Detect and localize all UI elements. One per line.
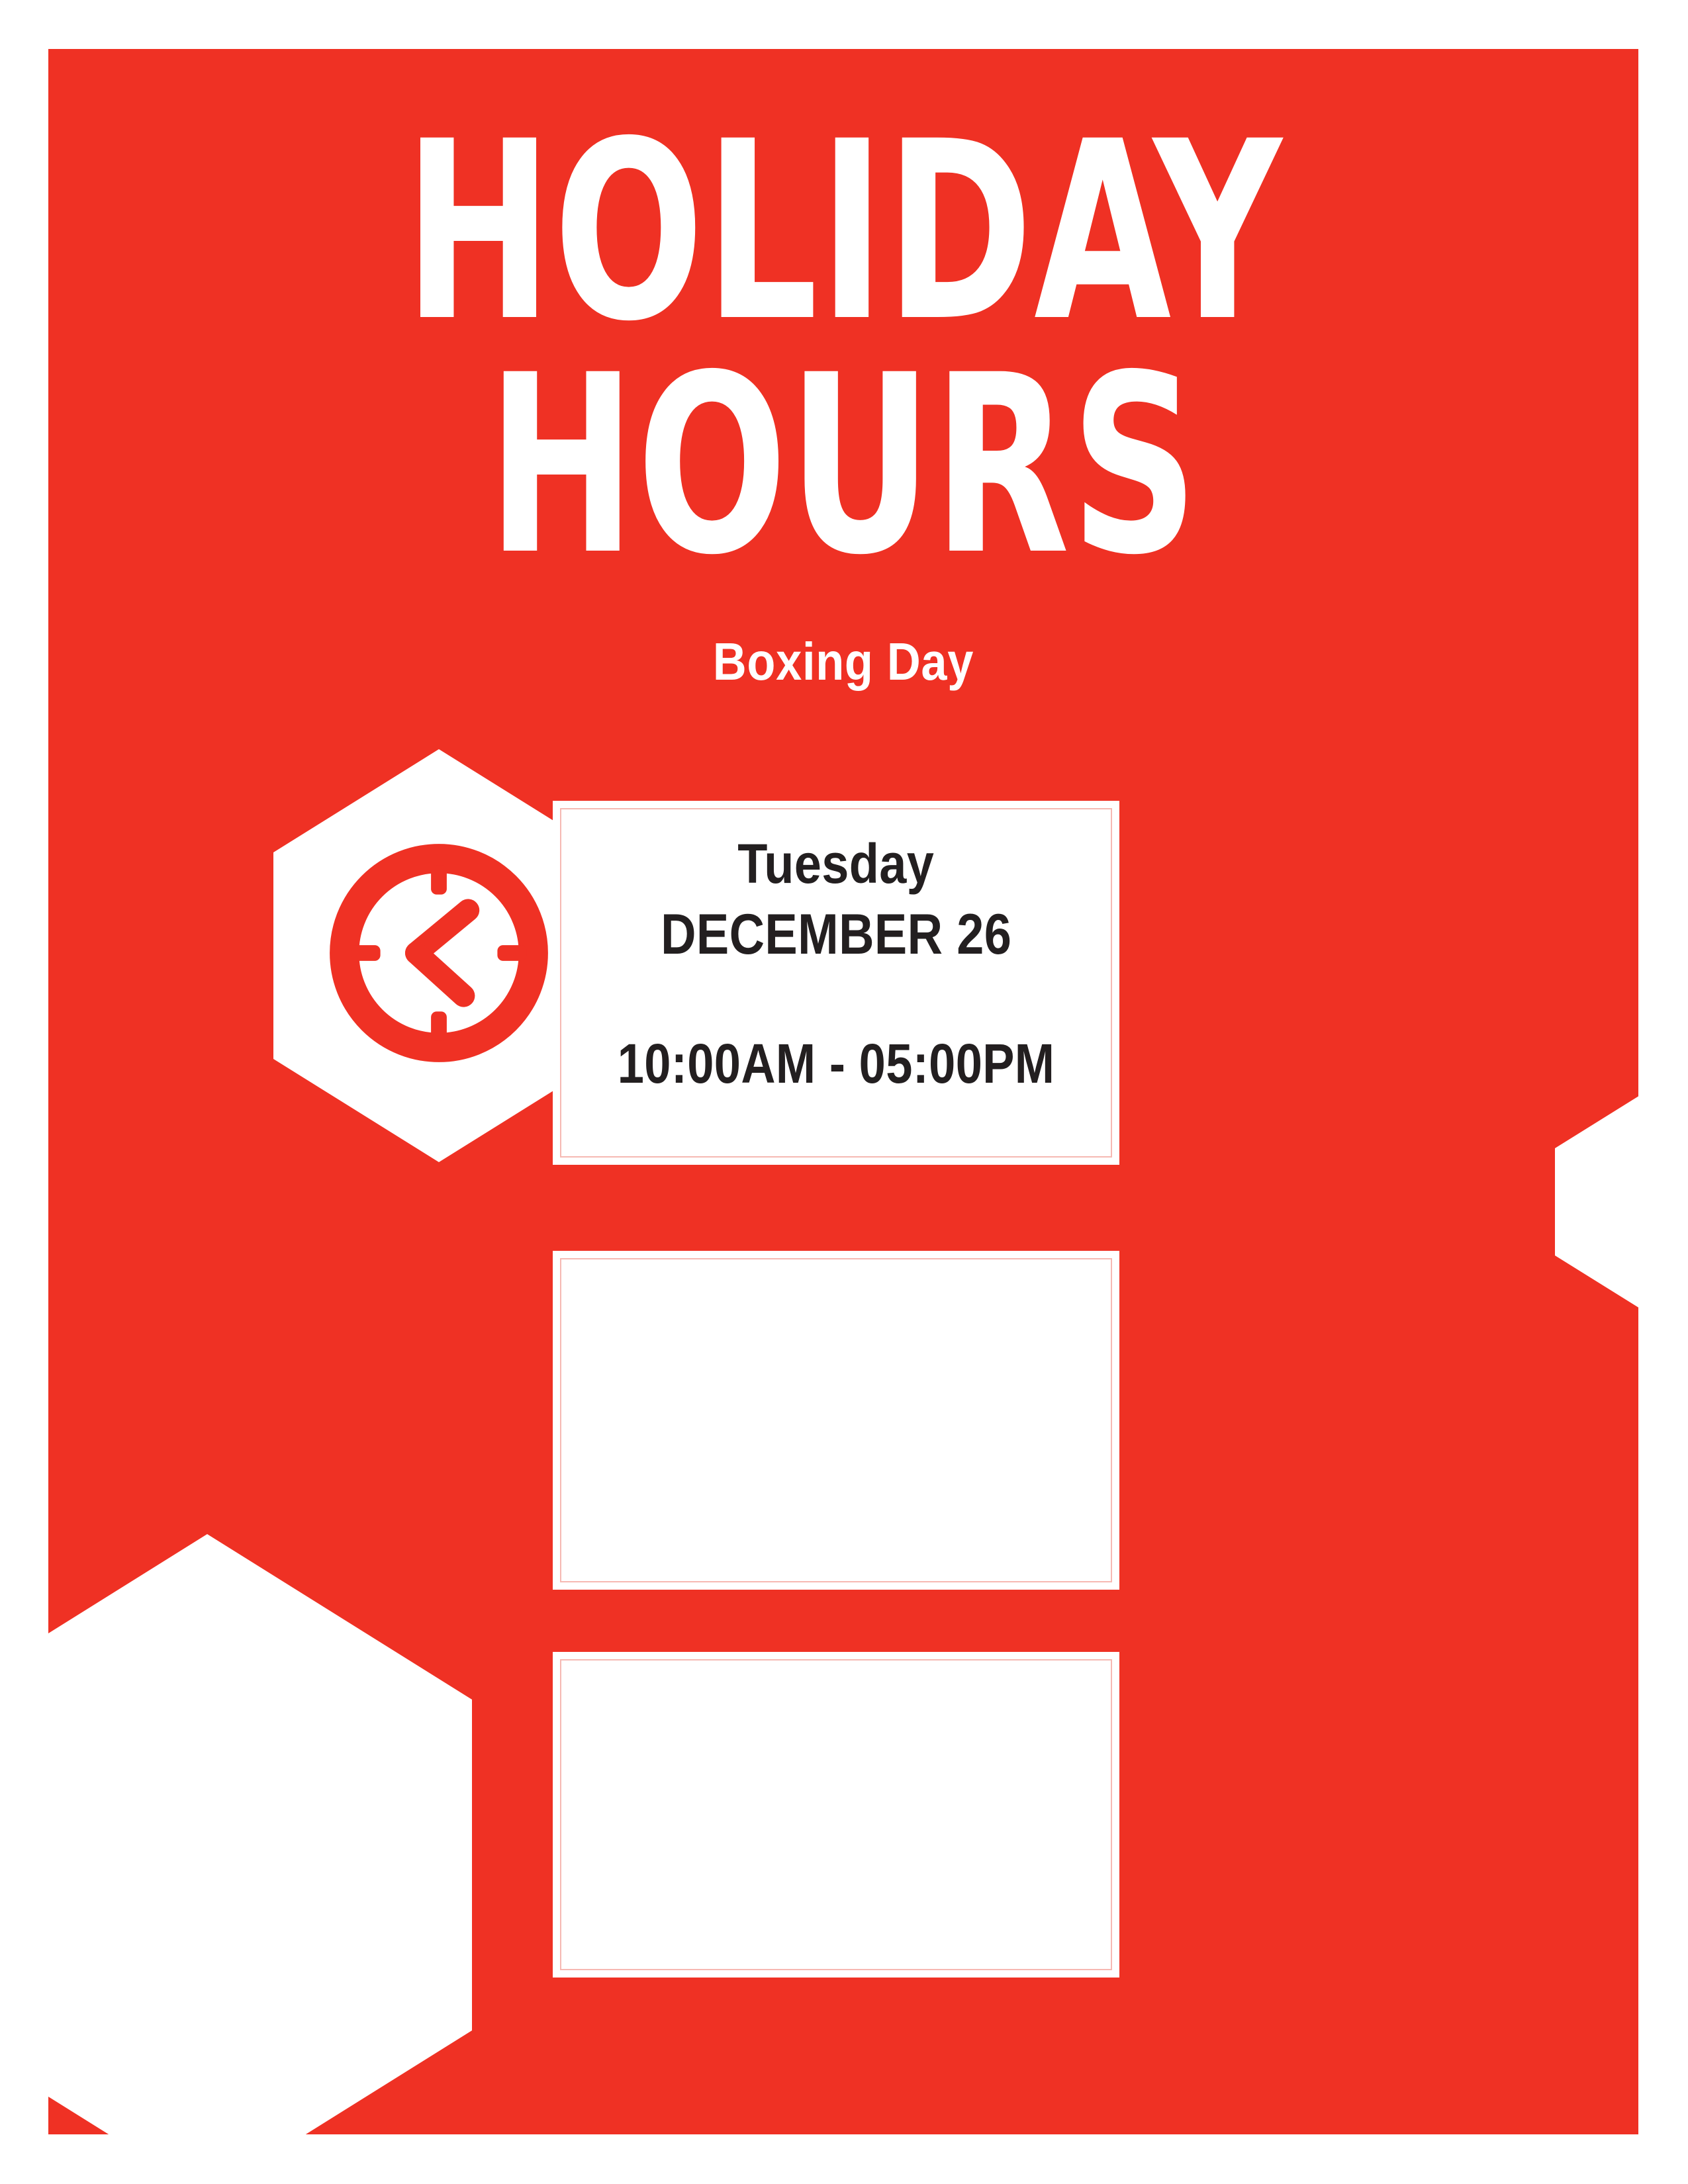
day-card-date: DECEMBER 26 (661, 905, 1011, 964)
title-line-1: HOLIDAY (207, 115, 1479, 349)
hexagon-decor-icon (48, 1534, 472, 2134)
day-card-inner (560, 1659, 1112, 1970)
day-card-weekday: Tuesday (737, 835, 934, 893)
day-card[interactable] (553, 1652, 1119, 1978)
poster-page: HOLIDAY HOURS Boxing Day Tuesday DECEMBE… (0, 0, 1688, 2184)
day-card-inner (560, 1258, 1112, 1582)
day-card[interactable]: Tuesday DECEMBER 26 10:00AM - 05:00PM (553, 801, 1119, 1165)
page-subtitle: Boxing Day (144, 631, 1543, 692)
day-card[interactable] (553, 1251, 1119, 1590)
red-panel-background: HOLIDAY HOURS Boxing Day Tuesday DECEMBE… (48, 49, 1638, 2134)
hexagon-decor-icon (1555, 1095, 1638, 1309)
title-line-2: HOURS (207, 349, 1479, 582)
page-title: HOLIDAY HOURS (48, 115, 1638, 583)
day-card-inner: Tuesday DECEMBER 26 10:00AM - 05:00PM (560, 808, 1112, 1158)
day-card-time: 10:00AM - 05:00PM (618, 1034, 1055, 1093)
clock-icon (326, 841, 551, 1066)
